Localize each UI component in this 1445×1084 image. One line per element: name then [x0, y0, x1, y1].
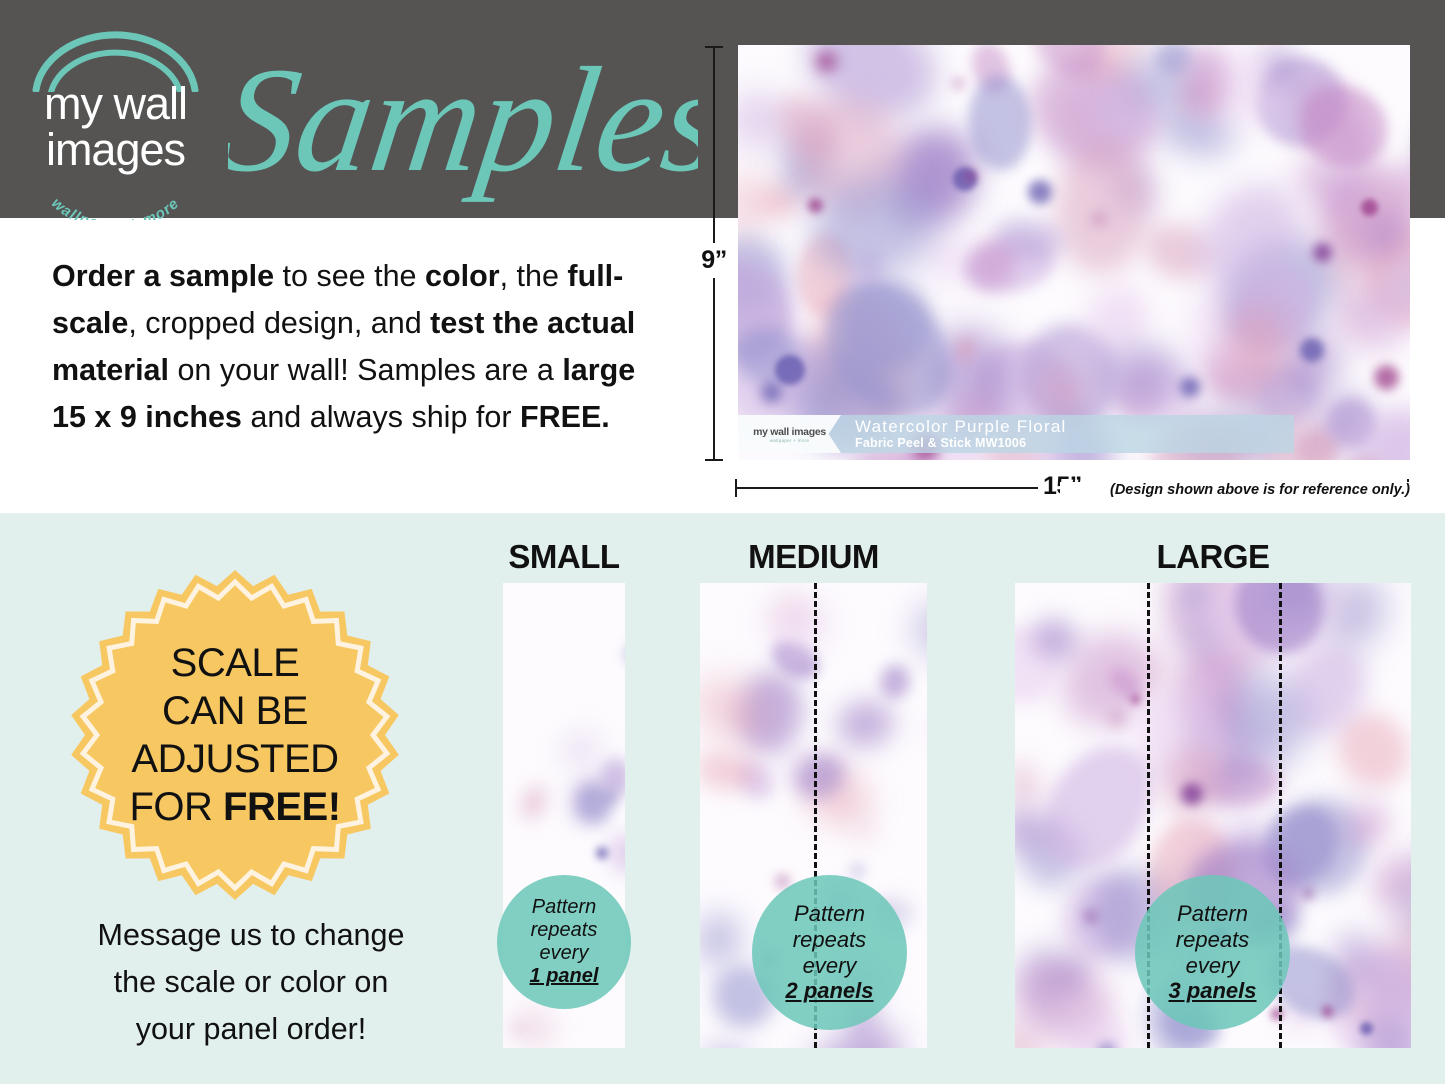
sample-label-logo-sub: wallpaper + more: [770, 438, 809, 443]
desc-text-5: are a: [484, 353, 562, 387]
repeat-line-2: repeats: [531, 919, 598, 942]
logo-line-1: my wall: [18, 78, 213, 130]
desc-text-7: ship for: [411, 400, 520, 434]
height-measure-cap-bottom: [705, 459, 723, 461]
desc-text-1: to see the: [274, 259, 425, 293]
repeat-badge-small: Pattern repeats every 1 panel: [497, 875, 631, 1009]
badge-line-2: CAN BE: [162, 687, 308, 735]
sample-pattern-name: Watercolor Purple Floral: [855, 417, 1066, 436]
sample-preview-image: my wall images wallpaper + more Watercol…: [738, 45, 1410, 460]
repeat-line-3: every: [803, 953, 857, 979]
desc-text-3: , cropped design, and: [128, 306, 430, 340]
badge-free-text: FREE!: [223, 785, 341, 829]
message-line-2: the scale or color on: [46, 959, 456, 1006]
description-paragraph: Order a sample to see the color, the ful…: [52, 253, 672, 441]
panel-heading-large: LARGE: [1015, 538, 1411, 576]
height-measure-label: 9”: [689, 243, 739, 278]
repeat-line-1: Pattern: [1177, 901, 1248, 927]
sample-label-logo-text: my wall images: [753, 426, 826, 438]
panel-heading-medium: MEDIUM: [700, 538, 927, 576]
watercolor-art: [738, 45, 1410, 460]
repeat-line-1: Pattern: [794, 901, 865, 927]
repeat-line-2: repeats: [1176, 927, 1249, 953]
desc-bold-order-a-sample: Order a sample: [52, 259, 274, 293]
desc-bold-free: FREE.: [520, 400, 610, 434]
badge-line-1: SCALE: [171, 639, 300, 687]
repeat-line-2: repeats: [793, 927, 866, 953]
width-measure-cap-left: [735, 479, 737, 497]
logo-line-2: images: [18, 124, 213, 176]
reference-disclaimer: (Design shown above is for reference onl…: [1060, 482, 1410, 498]
repeat-badge-large: Pattern repeats every 3 panels: [1135, 875, 1290, 1030]
desc-text-2: , the: [500, 259, 559, 293]
badge-text-group: SCALE CAN BE ADJUSTED FOR FREE!: [68, 568, 402, 902]
message-us-text: Message us to change the scale or color …: [46, 912, 456, 1053]
repeat-line-3: every: [540, 942, 589, 965]
svg-text:wallpaper + more: wallpaper + more: [48, 195, 183, 220]
sample-image-label-bar: my wall images wallpaper + more Watercol…: [738, 415, 1294, 453]
logo-tagline: wallpaper + more: [18, 170, 213, 220]
scale-adjust-badge: SCALE CAN BE ADJUSTED FOR FREE!: [68, 568, 402, 902]
desc-bold-test-the: test the: [430, 306, 538, 340]
desc-text-6: and always: [242, 400, 403, 434]
message-line-3: your panel order!: [46, 1006, 456, 1053]
message-line-1: Message us to change: [46, 912, 456, 959]
samples-script-title: Samples: [228, 28, 698, 208]
repeat-value: 3 panels: [1168, 978, 1256, 1004]
sample-label-logo: my wall images wallpaper + more: [738, 415, 841, 453]
panel-heading-small: SMALL: [503, 538, 625, 576]
repeat-value: 2 panels: [785, 978, 873, 1004]
repeat-line-3: every: [1186, 953, 1240, 979]
badge-line-4: FOR FREE!: [129, 783, 340, 831]
sample-material-sku: Fabric Peel & Stick MW1006: [855, 436, 1066, 451]
brand-logo: my wall images wallpaper + more: [18, 30, 213, 202]
badge-for-text: FOR: [129, 785, 223, 829]
repeat-badge-medium: Pattern repeats every 2 panels: [752, 875, 907, 1030]
sample-label-text-group: Watercolor Purple Floral Fabric Peel & S…: [841, 417, 1066, 451]
height-measure-cap-top: [705, 46, 723, 48]
desc-bold-color: color: [425, 259, 500, 293]
desc-text-4: on your wall! Samples: [169, 353, 476, 387]
badge-line-3: ADJUSTED: [131, 735, 338, 783]
repeat-line-1: Pattern: [532, 896, 596, 919]
svg-text:Samples: Samples: [228, 37, 698, 203]
repeat-value: 1 panel: [530, 965, 599, 988]
